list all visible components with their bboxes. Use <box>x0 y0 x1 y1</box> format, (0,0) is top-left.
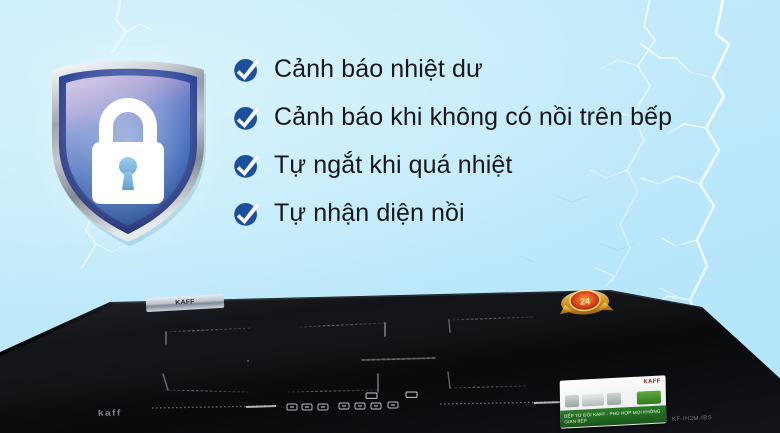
info-label-text: BẾP TỪ ĐÔI KAFF - PHÙ HỢP MỌI KHÔNG GIAN… <box>564 408 662 424</box>
feature-label: Tự nhận diện nồi <box>274 201 465 226</box>
info-label-thumb-1 <box>565 395 579 408</box>
feature-item-3: Tự ngắt khi quá nhiệt <box>232 148 762 182</box>
boost-button <box>302 404 312 410</box>
feature-label: Tự ngắt khi quá nhiệt <box>274 153 512 178</box>
lock-button <box>355 403 365 409</box>
zone-rear-left <box>165 328 252 344</box>
feature-item-4: Tự nhận diện nồi <box>232 196 762 230</box>
info-label-thumb-2 <box>582 393 604 406</box>
display-left <box>366 393 377 398</box>
feature-item-1: Cảnh báo nhiệt dư <box>232 52 762 86</box>
zone-front-far-right <box>448 372 528 388</box>
zone-rear-right <box>300 323 386 336</box>
cooktop-brand-plate-label: KAFF <box>146 295 225 312</box>
svg-text:24: 24 <box>580 296 591 307</box>
zone-front-right <box>288 374 378 392</box>
touch-control-panel <box>152 392 564 410</box>
check-circle-icon <box>232 198 262 228</box>
check-circle-icon <box>232 54 262 84</box>
info-label-badge <box>637 390 661 404</box>
feature-label: Cảnh báo nhiệt dư <box>274 57 483 82</box>
feature-list: Cảnh báo nhiệt dư Cảnh báo khi không có … <box>232 52 762 244</box>
function-button <box>318 404 328 410</box>
cooktop-brand-plate: KAFF <box>146 294 225 312</box>
right-power-slider <box>440 402 564 404</box>
left-power-slider <box>152 406 276 408</box>
keep-warm-button <box>371 403 381 409</box>
zone-rear-far-right <box>448 317 534 332</box>
display-right <box>406 392 417 397</box>
info-label-thumb-3 <box>607 393 621 406</box>
cooktop-brand-mark: kaff <box>98 409 122 419</box>
check-circle-icon <box>232 102 262 132</box>
feature-label: Cảnh báo khi không có nồi trên bếp <box>274 105 672 130</box>
check-circle-icon <box>232 150 262 180</box>
info-label-brand: KAFF <box>643 378 660 385</box>
product-info-label: KAFF BẾP TỪ ĐÔI KAFF - PHÙ HỢP MỌI KHÔNG… <box>560 375 667 429</box>
shield-lock-icon <box>44 56 212 246</box>
timer-button <box>339 403 349 409</box>
feature-item-2: Cảnh báo khi không có nồi trên bếp <box>232 100 762 134</box>
cooktop-model-code: KF-IH2M-IBS <box>672 415 712 423</box>
plus-minus-button <box>388 402 398 408</box>
promo-banner: Cảnh báo nhiệt dư Cảnh báo khi không có … <box>0 0 780 433</box>
power-button <box>287 404 297 410</box>
zone-front-left <box>163 374 248 392</box>
gold-seal-badge: 24 <box>558 289 614 317</box>
